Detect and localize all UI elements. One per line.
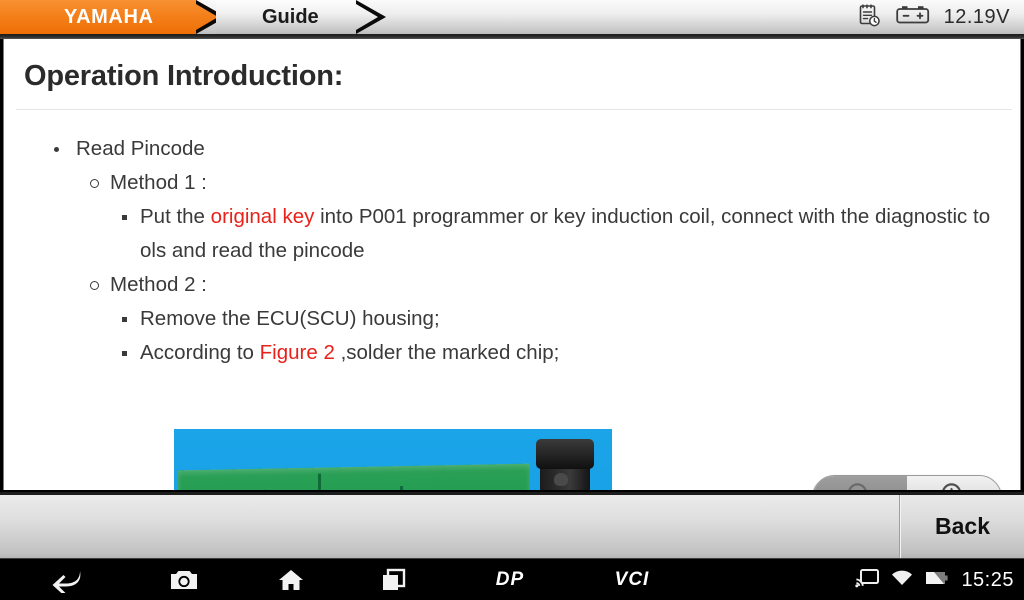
list-item: Method 1 : Put the original key into P00… <box>76 166 996 268</box>
camera-icon[interactable] <box>160 559 208 600</box>
guide-content-panel: Operation Introduction: Read Pincode Met… <box>3 39 1021 490</box>
list-item: According to Figure 2 ,solder the marked… <box>110 336 996 370</box>
vci-logo-icon[interactable]: VCI <box>606 559 658 600</box>
back-button[interactable]: Back <box>900 495 1024 558</box>
outline-level-3: Remove the ECU(SCU) housing; According t… <box>110 302 996 370</box>
dp-logo-icon[interactable]: DP <box>484 559 536 600</box>
magnifier-plus-icon <box>937 479 971 491</box>
step-text: According to Figure 2 ,solder the marked… <box>140 336 996 370</box>
magnifier-minus-icon <box>843 479 877 491</box>
step-text-prefix: Put the <box>140 205 211 228</box>
tab-yamaha-label: YAMAHA <box>64 6 154 29</box>
topic-label: Read Pincode <box>76 132 996 166</box>
car-battery-icon <box>896 4 930 31</box>
system-status-area: 15:25 <box>855 559 1014 600</box>
home-icon[interactable] <box>267 559 315 600</box>
list-item: Remove the ECU(SCU) housing; <box>110 302 996 336</box>
header-status-area: 12.19V <box>856 0 1010 34</box>
tab-yamaha[interactable]: YAMAHA <box>0 0 226 34</box>
step-text-suffix: ,solder the marked chip; <box>335 341 559 364</box>
outline-level-2: Method 1 : Put the original key into P00… <box>76 166 996 370</box>
back-arrow-icon[interactable] <box>42 559 90 600</box>
step-text: Remove the ECU(SCU) housing; <box>140 302 996 336</box>
dp-logo-label: DP <box>496 569 524 591</box>
method-label: Method 2 : <box>110 268 996 302</box>
list-item: Read Pincode Method 1 : Put the original… <box>28 132 996 370</box>
page-title: Operation Introduction: <box>4 39 1020 109</box>
app-header: YAMAHA Guide <box>0 0 1024 34</box>
battery-icon <box>925 569 949 592</box>
recent-apps-icon[interactable] <box>370 559 418 600</box>
back-button-label: Back <box>935 513 990 540</box>
vci-logo-label: VCI <box>615 569 650 591</box>
cast-icon <box>855 568 879 593</box>
outline-level-1: Read Pincode Method 1 : Put the original… <box>28 132 996 370</box>
step-text-highlight: original key <box>211 205 315 228</box>
step-text-highlight: Figure 2 <box>260 341 335 364</box>
list-item: Method 2 : Remove the ECU(SCU) housing; … <box>76 268 996 370</box>
zoom-in-button[interactable] <box>907 476 1001 490</box>
zoom-out-button[interactable] <box>813 476 907 490</box>
wifi-icon <box>891 569 913 592</box>
system-clock: 15:25 <box>961 569 1014 592</box>
guide-body: Read Pincode Method 1 : Put the original… <box>4 110 1020 370</box>
step-text: Put the original key into P001 programme… <box>140 200 996 268</box>
footer-bar: Back <box>0 492 1024 558</box>
figure-photo: R17 C18 ETC1 C20 J12 R115 R113 R114 R12 … <box>174 429 612 490</box>
clipboard-clock-icon[interactable] <box>856 2 882 33</box>
list-item: Put the original key into P001 programme… <box>110 200 996 268</box>
method-label: Method 1 : <box>110 166 996 200</box>
device-screen: YAMAHA Guide <box>0 0 1024 600</box>
android-navigation-bar: DP VCI <box>0 558 1024 600</box>
step-text-prefix: According to <box>140 341 260 364</box>
battery-voltage: 12.19V <box>944 6 1010 29</box>
tab-guide-label: Guide <box>262 6 319 29</box>
outline-level-3: Put the original key into P001 programme… <box>110 200 996 268</box>
zoom-control[interactable] <box>812 475 1002 490</box>
